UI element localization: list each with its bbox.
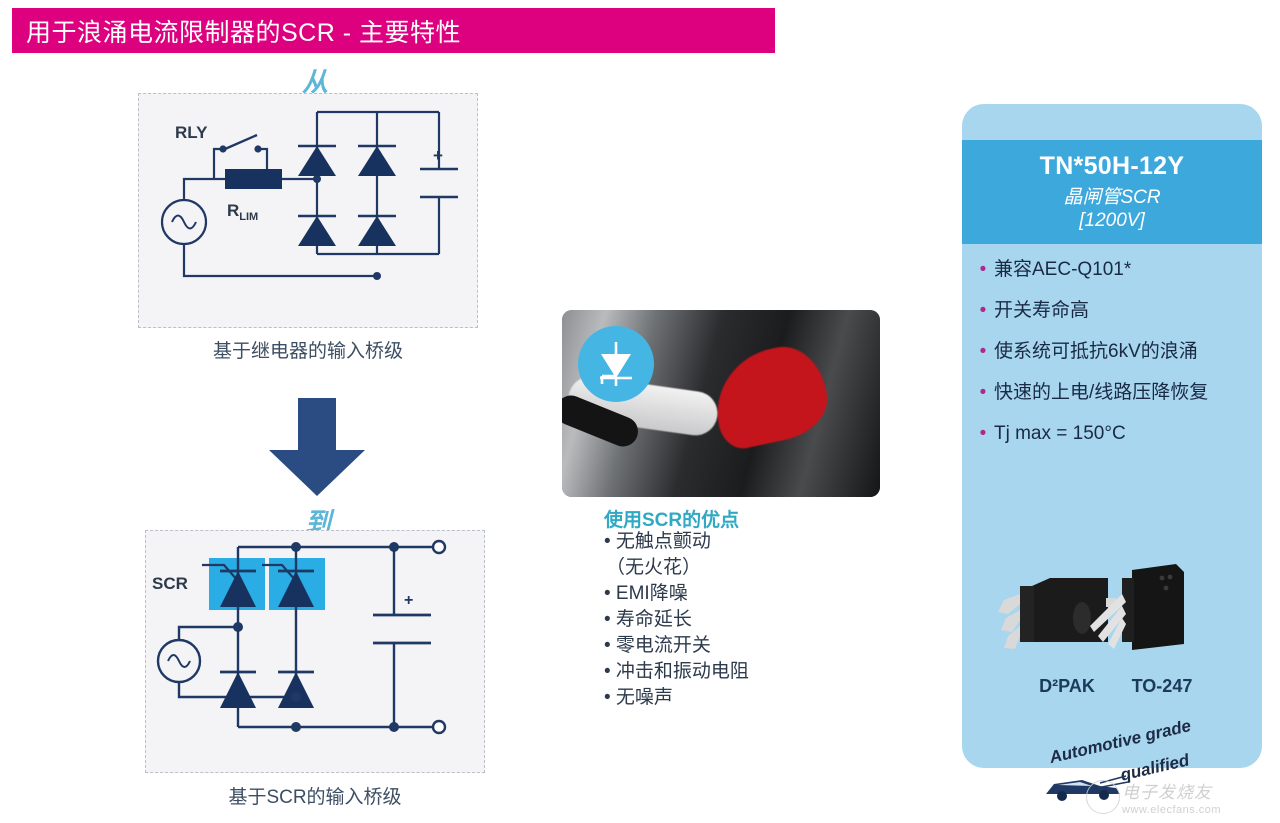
product-panel: TN*50H-12Y 晶闸管SCR [1200V] • 兼容AEC-Q101* …: [962, 104, 1262, 768]
down-arrow-icon: [262, 398, 372, 503]
list-item: • Tj max = 150°C: [972, 422, 1260, 446]
list-item: • 开关寿命高: [972, 299, 1260, 323]
benefits-list: • 无触点颤动 （无火花） • EMI降噪 • 寿命延长 • 零电流开关 • 冲…: [604, 529, 864, 711]
list-item: （无火花）: [604, 555, 864, 581]
list-item: • 快速的上电/线路压降恢复: [972, 381, 1260, 405]
watermark-url: www.elecfans.com: [1122, 804, 1280, 816]
to247-package-icon: [1080, 556, 1230, 676]
feature-label: 快速的上电/线路压降恢复: [994, 381, 1208, 405]
cap-plus-label-2: +: [404, 592, 413, 609]
product-feature-list: • 兼容AEC-Q101* • 开关寿命高 • 使系统可抵抗6kV的浪涌 • 快…: [972, 258, 1260, 463]
cap-plus-label: +: [433, 146, 443, 165]
list-item: • 无噪声: [604, 685, 864, 711]
watermark-circle-icon: [1086, 780, 1120, 814]
resistor-symbol: [225, 169, 282, 189]
page-title-bar: 用于浪涌电流限制器的SCR - 主要特性: [12, 8, 775, 53]
thyristor-icon: [578, 326, 654, 402]
list-item: • 无触点颤动: [604, 529, 864, 555]
bullet-icon: •: [972, 381, 994, 405]
scr-label: SCR: [152, 574, 188, 593]
product-voltage: [1200V]: [1079, 210, 1145, 232]
relay-label: RLY: [175, 123, 208, 142]
bullet-icon: •: [972, 340, 994, 364]
list-item: • 冲击和振动电阻: [604, 659, 864, 685]
product-part-number: TN*50H-12Y: [1040, 152, 1185, 181]
list-item: • 寿命延长: [604, 607, 864, 633]
site-watermark: 电子发烧友 www.elecfans.com: [1122, 778, 1280, 822]
scr-bridge-circuit: SCR +: [145, 530, 485, 773]
list-item: • 零电流开关: [604, 633, 864, 659]
ev-charging-photo: [562, 310, 880, 497]
benefits-heading: 使用SCR的优点: [604, 505, 739, 532]
relay-bridge-circuit: RLY RLIM +: [138, 93, 478, 328]
relay-bridge-caption: 基于继电器的输入桥级: [128, 336, 488, 363]
bullet-icon: •: [972, 422, 994, 446]
page-title: 用于浪涌电流限制器的SCR - 主要特性: [12, 13, 461, 49]
scr-bridge-caption: 基于SCR的输入桥级: [135, 782, 495, 809]
package-label-to247: TO-247: [1102, 676, 1222, 697]
feature-label: Tj max = 150°C: [994, 422, 1126, 446]
package-images: D²PAK TO-247: [962, 554, 1262, 714]
resistor-label: RLIM: [227, 201, 258, 223]
product-header: TN*50H-12Y 晶闸管SCR [1200V]: [962, 140, 1262, 244]
watermark-cn: 电子发烧友: [1122, 778, 1280, 803]
list-item: • 兼容AEC-Q101*: [972, 258, 1260, 282]
list-item: • 使系统可抵抗6kV的浪涌: [972, 340, 1260, 364]
feature-label: 使系统可抵抗6kV的浪涌: [994, 340, 1198, 364]
feature-label: 开关寿命高: [994, 299, 1089, 323]
list-item: • EMI降噪: [604, 581, 864, 607]
feature-label: 兼容AEC-Q101*: [994, 258, 1131, 282]
bullet-icon: •: [972, 258, 994, 282]
product-subtitle: 晶闸管SCR: [1063, 182, 1160, 209]
bullet-icon: •: [972, 299, 994, 323]
